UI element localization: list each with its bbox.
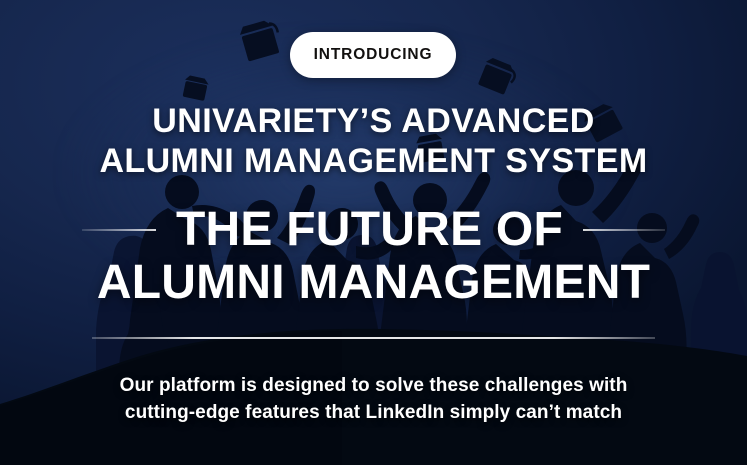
- headline-rule-row: THE FUTURE OF: [0, 206, 747, 254]
- subtitle-paragraph: Our platform is designed to solve these …: [0, 373, 747, 427]
- headline-line-1: THE FUTURE OF: [176, 206, 563, 254]
- eyebrow-line-2: ALUMNI MANAGEMENT SYSTEM: [0, 141, 747, 181]
- introducing-badge-label: INTRODUCING: [314, 46, 433, 64]
- divider-rule-left: [82, 229, 156, 231]
- subtitle-line-2: cutting-edge features that LinkedIn simp…: [0, 400, 747, 427]
- introducing-badge[interactable]: INTRODUCING: [290, 32, 456, 78]
- subtitle-line-1: Our platform is designed to solve these …: [0, 373, 747, 400]
- headline-line-2: ALUMNI MANAGEMENT: [0, 259, 747, 307]
- banner-hero: INTRODUCING UNIVARIETY’S ADVANCED ALUMNI…: [0, 0, 747, 465]
- eyebrow-line-1: UNIVARIETY’S ADVANCED: [0, 101, 747, 141]
- divider-rule-right: [583, 229, 665, 231]
- divider-rule-bottom: [92, 337, 655, 339]
- banner-content: INTRODUCING UNIVARIETY’S ADVANCED ALUMNI…: [0, 0, 747, 465]
- eyebrow-heading: UNIVARIETY’S ADVANCED ALUMNI MANAGEMENT …: [0, 101, 747, 181]
